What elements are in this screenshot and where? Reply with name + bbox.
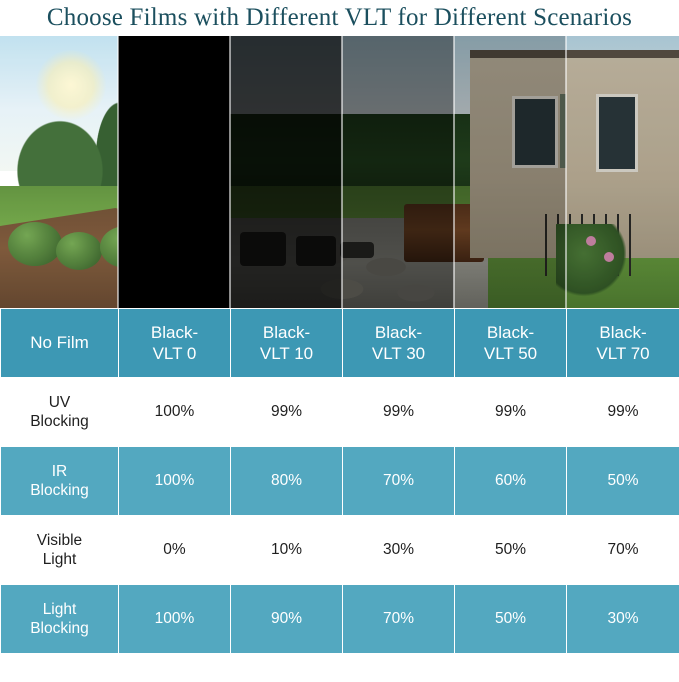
tree-mass [0,66,118,206]
row-label-ir-blocking: IR Blocking [1,447,119,516]
cell-vl-vlt-70: 70% [567,516,679,585]
pane-vlt-70 [566,36,679,308]
header-vlt-10: Black- VLT 10 [231,309,343,378]
pane-vlt-10 [230,36,342,308]
pane-no-film [0,36,118,308]
cell-lb-vlt-50: 50% [455,585,567,654]
cell-ir-vlt-50: 60% [455,447,567,516]
cell-ir-vlt-30: 70% [343,447,455,516]
pane-divider [117,36,119,308]
pane-vlt-0 [118,36,230,308]
cell-vl-vlt-10: 10% [231,516,343,585]
infographic-page: Choose Films with Different VLT for Diff… [0,0,679,682]
header-vlt-70: Black- VLT 70 [567,309,679,378]
title-bar: Choose Films with Different VLT for Diff… [0,0,679,36]
row-label-visible-light: Visible Light [1,516,119,585]
table-row-light-blocking: Light Blocking 100% 90% 70% 50% 30% [1,585,679,654]
cell-uv-vlt-50: 99% [455,378,567,447]
row-label-light-blocking: Light Blocking [1,585,119,654]
table-header-row: No Film Black- VLT 0 Black- VLT 10 Black… [1,309,679,378]
cell-uv-vlt-70: 99% [567,378,679,447]
row-label-uv-blocking: UV Blocking [1,378,119,447]
cell-lb-vlt-30: 70% [343,585,455,654]
cell-ir-vlt-70: 50% [567,447,679,516]
cell-vl-vlt-50: 50% [455,516,567,585]
shrub [8,222,62,266]
cell-lb-vlt-70: 30% [567,585,679,654]
vlt-comparison-strip [0,36,679,308]
cell-vl-vlt-0: 0% [119,516,231,585]
vlt-comparison-table: No Film Black- VLT 0 Black- VLT 10 Black… [0,308,679,654]
pane-divider [229,36,231,308]
pane-vlt-30 [342,36,454,308]
cell-vl-vlt-30: 30% [343,516,455,585]
cell-uv-vlt-10: 99% [231,378,343,447]
cell-lb-vlt-10: 90% [231,585,343,654]
pane-divider [341,36,343,308]
shrub [56,232,102,270]
table-row-uv-blocking: UV Blocking 100% 99% 99% 99% 99% [1,378,679,447]
cell-ir-vlt-10: 80% [231,447,343,516]
header-no-film: No Film [1,309,119,378]
pane-divider [565,36,567,308]
cell-lb-vlt-0: 100% [119,585,231,654]
header-vlt-30: Black- VLT 30 [343,309,455,378]
header-vlt-0: Black- VLT 0 [119,309,231,378]
pane-vlt-50 [454,36,566,308]
table-row-visible-light: Visible Light 0% 10% 30% 50% 70% [1,516,679,585]
page-title: Choose Films with Different VLT for Diff… [47,4,632,32]
cell-uv-vlt-30: 99% [343,378,455,447]
cell-uv-vlt-0: 100% [119,378,231,447]
header-vlt-50: Black- VLT 50 [455,309,567,378]
cell-ir-vlt-0: 100% [119,447,231,516]
table-row-ir-blocking: IR Blocking 100% 80% 70% 60% 50% [1,447,679,516]
pane-divider [453,36,455,308]
